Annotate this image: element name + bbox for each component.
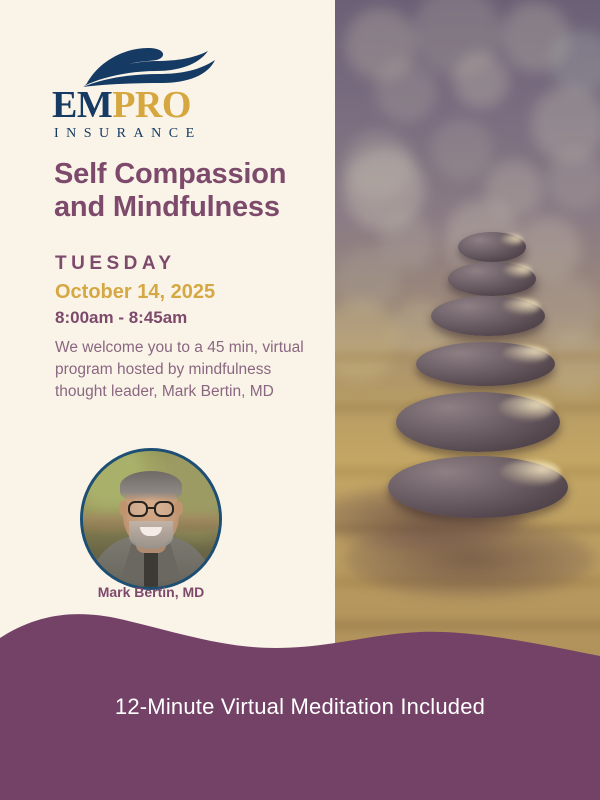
- event-time: 8:00am - 8:45am: [55, 308, 187, 328]
- flyer-canvas: EMPRO INSURANCE Self Compassion and Mind…: [0, 0, 600, 800]
- speaker-photo: [80, 448, 222, 590]
- event-description: We welcome you to a 45 min, virtual prog…: [55, 337, 305, 403]
- event-date: October 14, 2025: [55, 281, 215, 304]
- empro-insurance-logo: EMPRO INSURANCE: [52, 45, 227, 142]
- content-column: EMPRO INSURANCE Self Compassion and Mind…: [0, 0, 335, 660]
- speaker-avatar: [80, 448, 222, 590]
- logo-text-pro: PRO: [112, 84, 191, 126]
- speaker-name-caption: Mark Bertin, MD: [80, 584, 222, 600]
- banner-message: 12-Minute Virtual Meditation Included: [0, 694, 600, 720]
- logo-text-em: EM: [52, 84, 112, 126]
- zen-stones-photo: [335, 0, 600, 660]
- wing-swoosh-icon: [82, 45, 222, 87]
- event-weekday: TUESDAY: [55, 253, 176, 275]
- event-headline: Self Compassion and Mindfulness: [54, 158, 324, 224]
- logo-subtitle: INSURANCE: [54, 126, 227, 142]
